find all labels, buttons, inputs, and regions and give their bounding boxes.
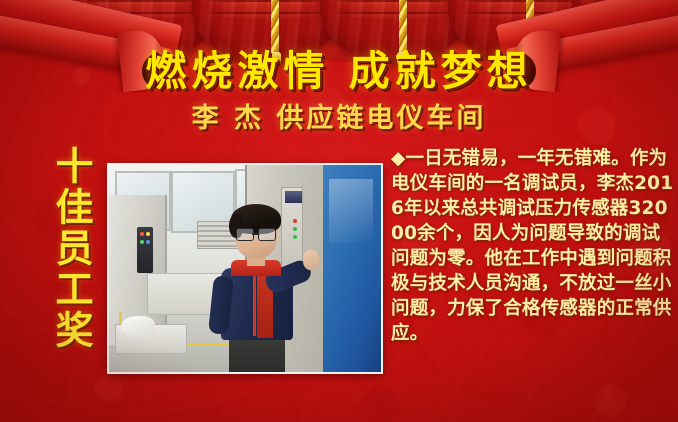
photo-figure-glasses: [236, 228, 276, 239]
award-vertical-title: 十佳员工奖: [38, 146, 90, 351]
diamond-bullet-icon: ◆: [391, 148, 405, 169]
poster-subtitle: 李 杰 供应链电仪车间: [0, 96, 678, 135]
photo-figure-legs: [229, 336, 285, 372]
photo-chamber-display: [285, 191, 302, 203]
photo-figure-hand: [303, 250, 319, 270]
poster-headline: 燃烧激情 成就梦想: [0, 37, 678, 97]
employee-description: ◆一日无错易，一年无错难。作为电仪车间的一名调试员，李杰2016年以来总共调试压…: [391, 146, 674, 346]
photo-blue-cabinet: [323, 165, 381, 372]
employee-description-text: 一日无错易，一年无错难。作为电仪车间的一名调试员，李杰2016年以来总共调试压力…: [391, 148, 673, 344]
photo-employee-figure: [205, 204, 309, 372]
employee-photo-frame: [107, 163, 383, 374]
photo-material-bag: [121, 316, 155, 338]
employee-photo: [109, 165, 381, 372]
photo-control-panel: [137, 227, 153, 273]
photo-figure-zipper: [253, 270, 256, 336]
award-poster: 燃烧激情 成就梦想 李 杰 供应链电仪车间 十佳员工奖: [0, 0, 678, 422]
